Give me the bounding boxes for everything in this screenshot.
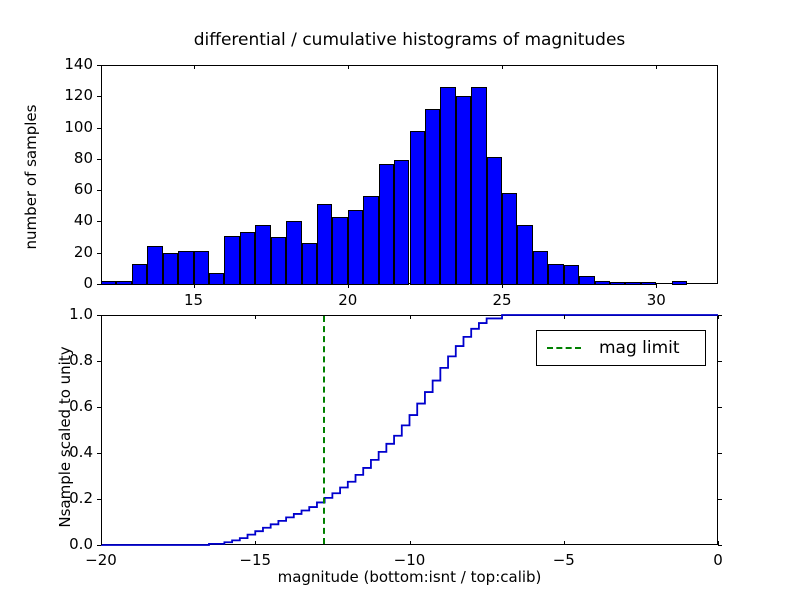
bottom-axis-ytick	[97, 499, 101, 500]
bottom-axis-ytick	[97, 361, 101, 362]
bottom-axis-ytick-right	[718, 361, 722, 362]
bottom-axis-ytick-label: 0.2	[35, 489, 93, 507]
bottom-axis-ytick	[97, 407, 101, 408]
cumulative-series-cumulative	[101, 315, 718, 545]
bottom-axis-ytick-label: 0.8	[35, 351, 93, 369]
bottom-axis-xtick	[718, 541, 719, 545]
cumulative-curve-layer	[0, 0, 800, 600]
bottom-axis-xtick-label: 0	[683, 551, 753, 569]
bottom-axis-xtick	[410, 541, 411, 545]
bottom-axis-ytick-right	[718, 453, 722, 454]
bottom-axis-ytick	[97, 453, 101, 454]
bottom-axis-xtick-top	[255, 315, 256, 319]
bottom-axis-xtick-label: −20	[66, 551, 136, 569]
bottom-axis-ytick-right	[718, 545, 722, 546]
figure-canvas: differential / cumulative histograms of …	[0, 0, 800, 600]
bottom-axis-xtick-top	[101, 315, 102, 319]
mag-limit-vline	[323, 316, 325, 544]
bottom-axis-xtick-label: −5	[529, 551, 599, 569]
bottom-axis-ytick-right	[718, 499, 722, 500]
bottom-axis-ytick-label: 0.4	[35, 443, 93, 461]
bottom-axis-xtick-top	[718, 315, 719, 319]
bottom-axis-ytick	[97, 545, 101, 546]
bottom-axis-xtick	[101, 541, 102, 545]
bottom-axis-ytick-right	[718, 407, 722, 408]
bottom-axis-xtick-label: −15	[220, 551, 290, 569]
bottom-axis-ytick-label: 0.6	[35, 397, 93, 415]
bottom-axis-xtick	[564, 541, 565, 545]
bottom-axis-xtick-top	[410, 315, 411, 319]
bottom-axis-xtick-label: −10	[375, 551, 445, 569]
bottom-axis-xtick-top	[564, 315, 565, 319]
bottom-axis-ytick-label: 1.0	[35, 305, 93, 323]
bottom-axis-xtick	[255, 541, 256, 545]
